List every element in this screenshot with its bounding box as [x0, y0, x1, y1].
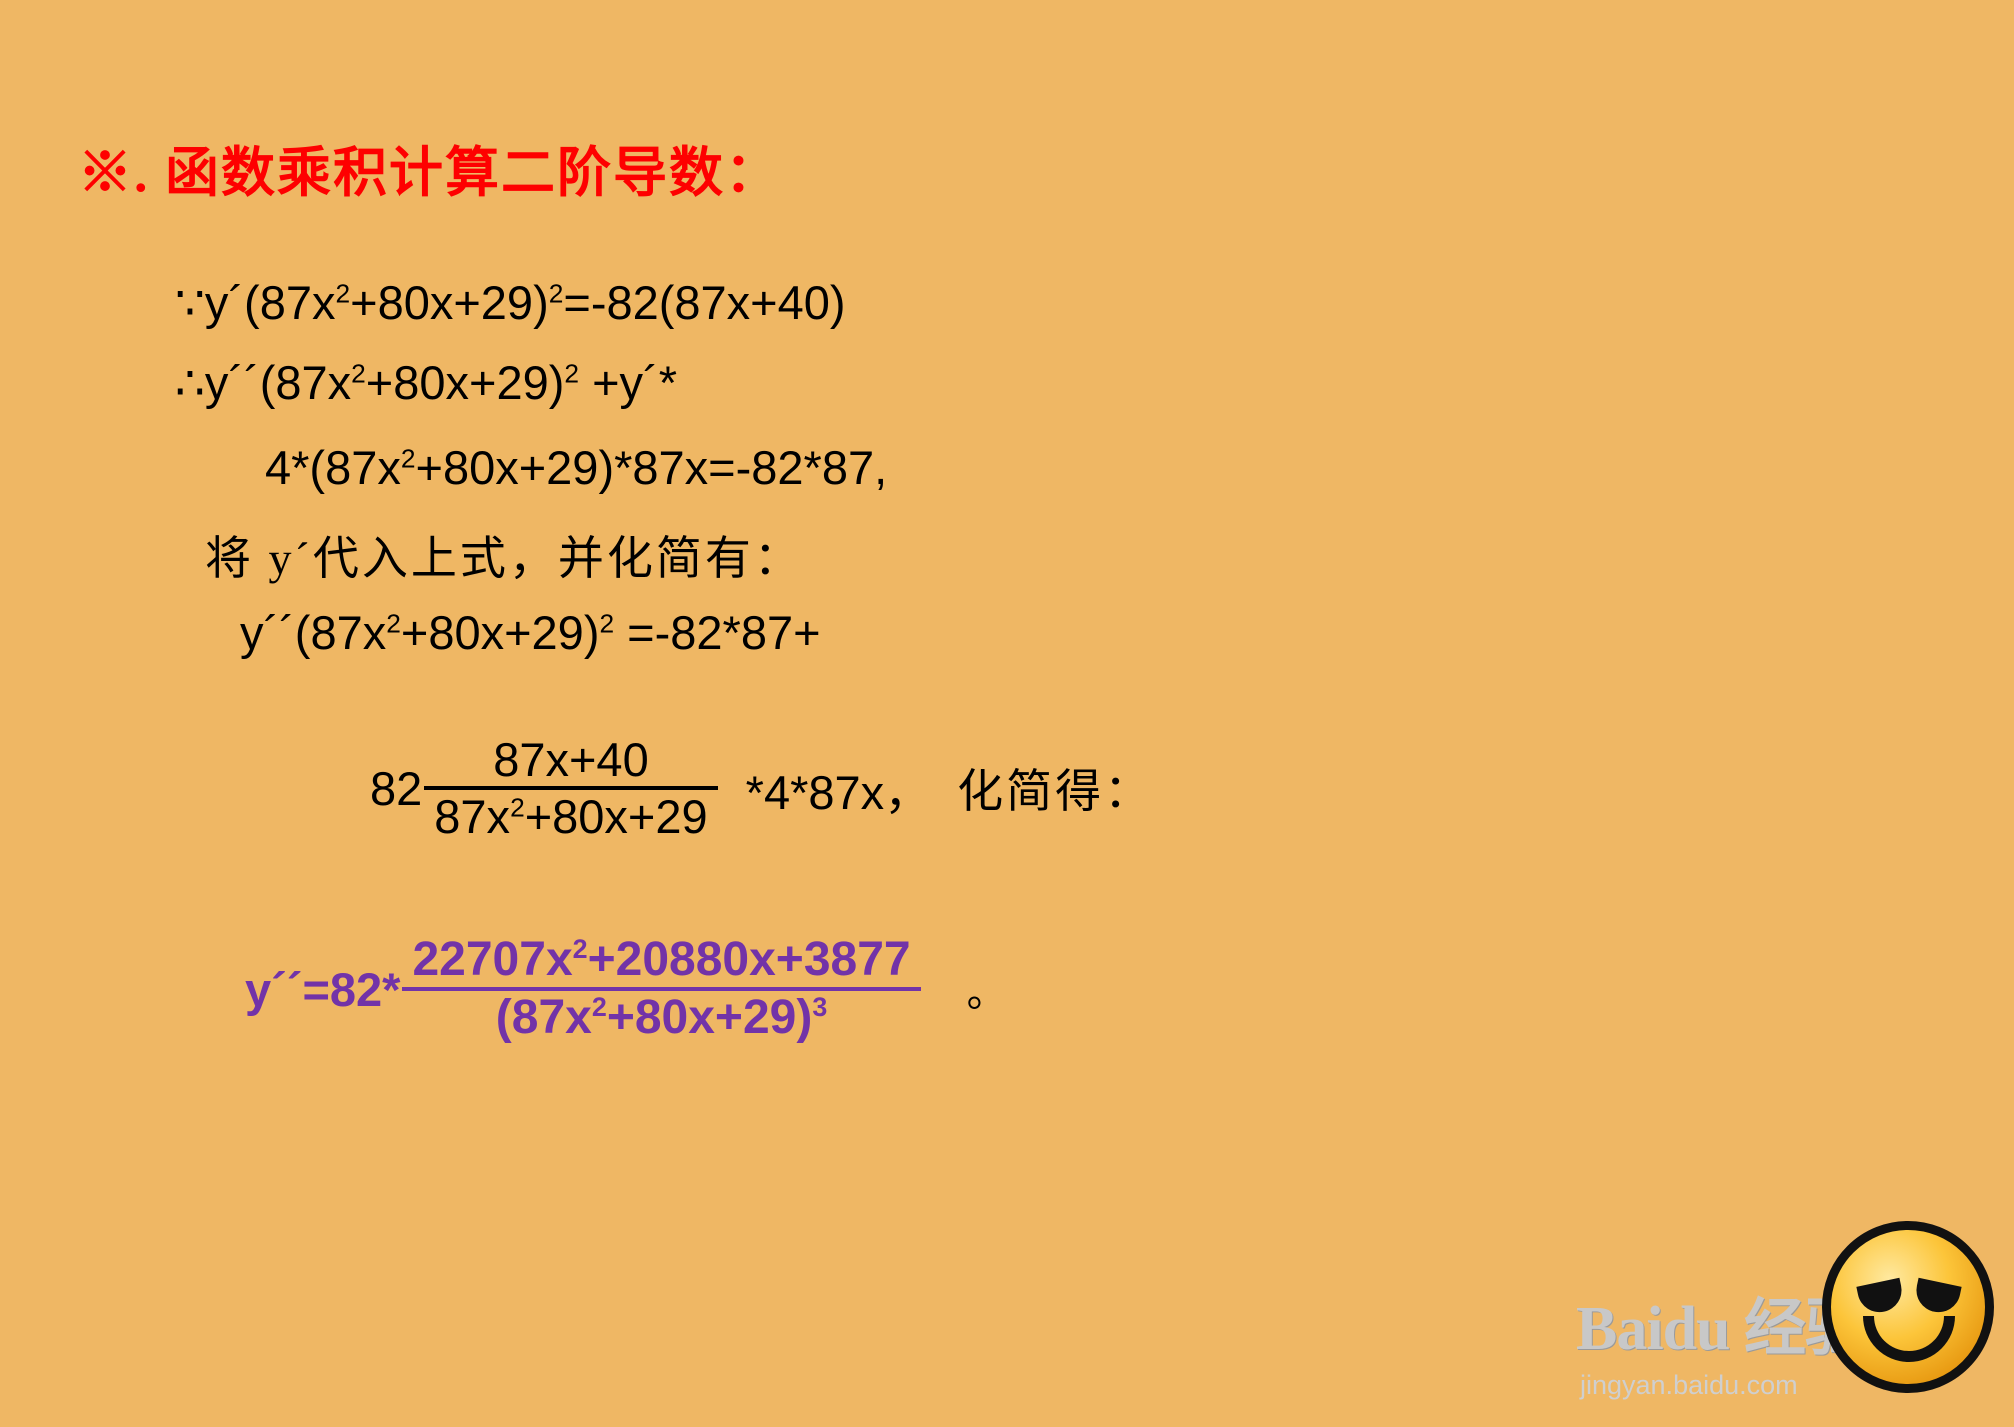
den-lead: 87x: [434, 790, 510, 843]
page-title: ※. 函数乘积计算二阶导数：: [78, 128, 781, 207]
line5-mid: +80x+29): [401, 606, 600, 659]
fraction-suffix-cn: 化简得：: [957, 755, 1153, 821]
line5-lead: y´´(87x: [240, 606, 386, 659]
black-fraction: 87x+40 87x2+80x+29: [424, 735, 717, 842]
line2-tail: +y´*: [579, 356, 677, 409]
line2-sup1: 2: [351, 358, 366, 388]
bear-mouth-icon: [1863, 1316, 1955, 1362]
den-sup: 2: [510, 793, 525, 823]
line2-mid: +80x+29): [366, 356, 565, 409]
line3-mid: +80x+29)*87x=-82*87,: [416, 441, 888, 494]
line2-lead: ∴y´´(87x: [175, 356, 351, 409]
den-tail: +80x+29: [525, 790, 708, 843]
line5-tail: =-82*87+: [614, 606, 820, 659]
line1-sup2: 2: [549, 278, 564, 308]
equation-line-3: 4*(87x2+80x+29)*87x=-82*87,: [265, 440, 887, 495]
final-lhs: y´´=82*: [245, 962, 400, 1017]
fraction-coefficient: 82: [370, 765, 422, 812]
line3-lead: 4*(87x: [265, 441, 401, 494]
final-den-lead: (87x: [496, 991, 592, 1044]
final-den-sup: 2: [592, 992, 607, 1022]
line5-sup2: 2: [599, 608, 614, 638]
equation-line-4-note: 将 y´代入上式，并化简有：: [205, 522, 803, 588]
slide-canvas: ※. 函数乘积计算二阶导数： ∵y´(87x2+80x+29)2=-82(87x…: [0, 0, 2014, 1427]
final-den-sup2: 3: [812, 992, 827, 1022]
final-denominator: (87x2+80x+29)3: [486, 991, 838, 1043]
line5-sup1: 2: [386, 608, 401, 638]
equation-line-1: ∵y´(87x2+80x+29)2=-82(87x+40): [175, 275, 846, 331]
bear-eye-right-icon: [1912, 1278, 1961, 1316]
line1-mid: +80x+29): [350, 276, 549, 329]
equation-line-5: y´´(87x2+80x+29)2 =-82*87+: [240, 605, 821, 660]
final-den-mid: +80x+29): [607, 991, 813, 1044]
baidu-watermark: Baidu 经验 jingyan.baidu.com: [1576, 1213, 1996, 1413]
line1-tail: =-82(87x+40): [563, 276, 845, 329]
line1-sup1: 2: [335, 278, 350, 308]
baidu-bear-icon: [1822, 1221, 1994, 1393]
fraction-suffix: *4*87x，: [746, 754, 932, 823]
fraction-numerator: 87x+40: [483, 735, 659, 786]
black-fraction-row: 82 87x+40 87x2+80x+29 *4*87x， 化简得：: [370, 735, 1153, 842]
equation-line-2: ∴y´´(87x2+80x+29)2 +y´*: [175, 355, 677, 411]
final-num-sup: 2: [573, 934, 588, 964]
final-num-tail: +20880x+3877: [588, 933, 911, 986]
line2-sup2: 2: [564, 358, 579, 388]
final-num-lead: 22707x: [412, 933, 572, 986]
watermark-url: jingyan.baidu.com: [1580, 1370, 1798, 1401]
bear-eye-left-icon: [1856, 1278, 1905, 1316]
final-fraction: 22707x2+20880x+3877 (87x2+80x+29)3: [402, 935, 920, 1044]
line3-sup1: 2: [401, 443, 416, 473]
fraction-denominator: 87x2+80x+29: [424, 790, 717, 841]
line1-lead: ∵y´(87x: [175, 276, 335, 329]
final-result-row: y´´=82* 22707x2+20880x+3877 (87x2+80x+29…: [245, 935, 1007, 1044]
final-period: 。: [967, 960, 1007, 1018]
final-numerator: 22707x2+20880x+3877: [402, 935, 920, 987]
